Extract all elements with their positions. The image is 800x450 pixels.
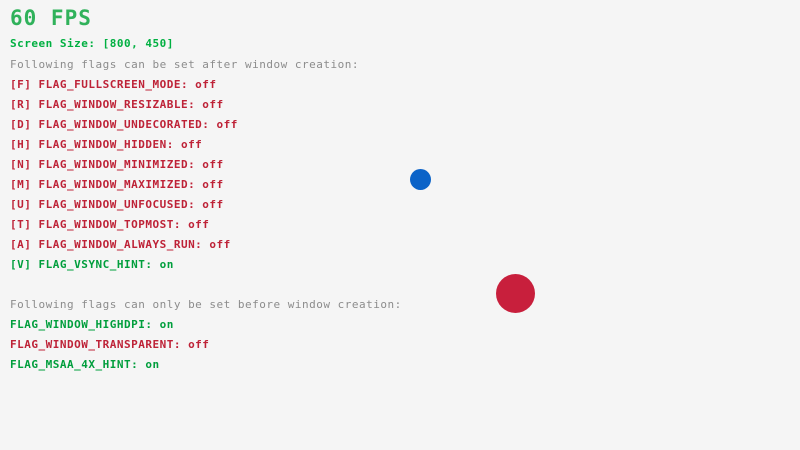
flag-row-flag-window-highdpi[interactable]: FLAG_WINDOW_HIGHDPI: on (10, 319, 174, 330)
flag-row-flag-window-transparent[interactable]: FLAG_WINDOW_TRANSPARENT: off (10, 339, 209, 350)
flag-row-flag-window-unfocused[interactable]: [U] FLAG_WINDOW_UNFOCUSED: off (10, 199, 224, 210)
flag-row-flag-window-maximized[interactable]: [M] FLAG_WINDOW_MAXIMIZED: off (10, 179, 224, 190)
runtime-flags-header: Following flags can be set after window … (10, 59, 359, 70)
flag-row-flag-window-minimized[interactable]: [N] FLAG_WINDOW_MINIMIZED: off (10, 159, 224, 170)
flag-row-flag-window-topmost[interactable]: [T] FLAG_WINDOW_TOPMOST: off (10, 219, 209, 230)
flag-row-flag-vsync-hint[interactable]: [V] FLAG_VSYNC_HINT: on (10, 259, 174, 270)
bouncing-ball-blue (410, 169, 431, 190)
flag-row-flag-window-always-run[interactable]: [A] FLAG_WINDOW_ALWAYS_RUN: off (10, 239, 231, 250)
flag-row-flag-msaa-4x-hint[interactable]: FLAG_MSAA_4X_HINT: on (10, 359, 160, 370)
flag-row-flag-window-hidden[interactable]: [H] FLAG_WINDOW_HIDDEN: off (10, 139, 202, 150)
creation-flags-header: Following flags can only be set before w… (10, 299, 402, 310)
fps-counter: 60 FPS (10, 8, 92, 29)
raylib-window-canvas[interactable]: 60 FPS Screen Size: [800, 450] Following… (0, 0, 800, 450)
screen-size-label: Screen Size: [800, 450] (10, 38, 174, 49)
bouncing-ball-red (496, 274, 535, 313)
flag-row-flag-window-resizable[interactable]: [R] FLAG_WINDOW_RESIZABLE: off (10, 99, 224, 110)
flag-row-flag-window-undecorated[interactable]: [D] FLAG_WINDOW_UNDECORATED: off (10, 119, 238, 130)
flag-row-flag-fullscreen-mode[interactable]: [F] FLAG_FULLSCREEN_MODE: off (10, 79, 217, 90)
